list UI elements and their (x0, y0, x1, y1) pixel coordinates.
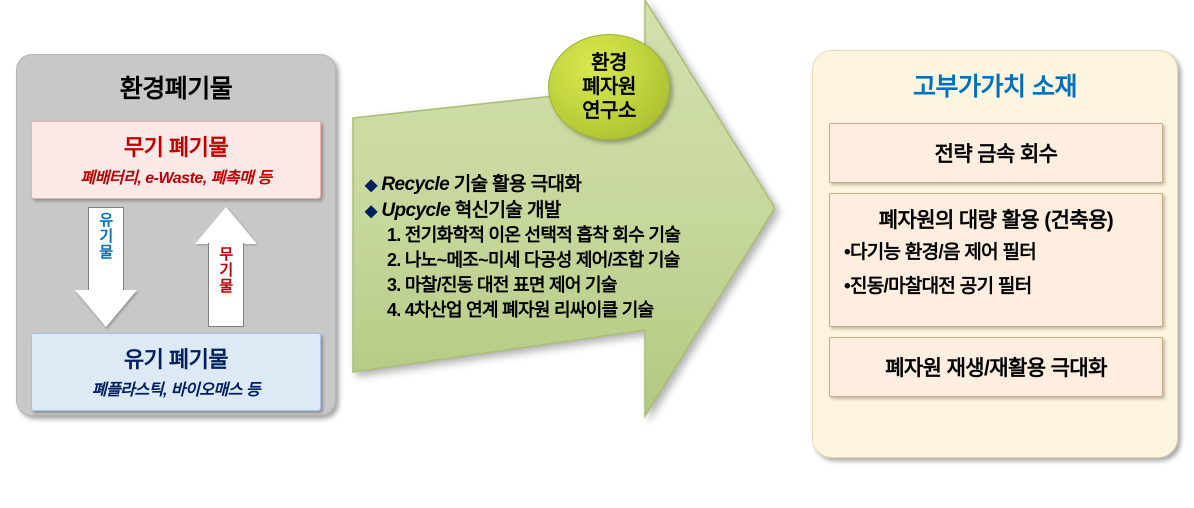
arrow-item-4: 4. 4차산업 연계 폐자원 리싸이클 기술 (387, 298, 755, 323)
institute-badge-label: 환경 폐자원 연구소 (582, 51, 636, 123)
arrow-bullet-2-emph: Upcycle (381, 200, 450, 221)
output-box-mass-utilization: 폐자원의 대량 활용 (건축용) •다기능 환경/음 제어 필터 •진동/마찰대… (829, 193, 1163, 327)
up-arrow-head (195, 207, 257, 244)
output-box-recycling: 폐자원 재생/재활용 극대화 (829, 337, 1163, 397)
inorganic-waste-subtitle: 폐배터리, e-Waste, 폐촉매 등 (32, 164, 320, 188)
arrow-bullet-2-rest: 혁신기술 개발 (450, 200, 561, 221)
organic-down-arrow: 유 기 물 (75, 207, 137, 327)
arrow-item-1: 1. 전기화학적 이온 선택적 흡착 회수 기술 (387, 223, 755, 248)
output-box-2-title: 폐자원의 대량 활용 (건축용) (830, 204, 1162, 234)
arrow-bullet-1-rest: 기술 활용 극대화 (449, 174, 581, 195)
inorganic-up-arrow: 무 기 물 (195, 207, 257, 327)
organic-waste-title: 유기 폐기물 (32, 342, 320, 374)
left-panel-title: 환경폐기물 (17, 69, 335, 105)
organic-waste-subtitle: 폐플라스틱, 바이오매스 등 (32, 376, 320, 400)
down-arrow-label: 유 기 물 (75, 213, 137, 262)
output-box-3-title: 폐자원 재생/재활용 극대화 (830, 352, 1162, 382)
diamond-icon: ◆ (365, 177, 377, 194)
arrow-text-block: ◆ Recycle 기술 활용 극대화 ◆ Upcycle 혁신기술 개발 1.… (365, 172, 755, 323)
output-box-1-title: 전략 금속 회수 (830, 138, 1162, 168)
arrow-bullet-1: ◆ Recycle 기술 활용 극대화 (365, 172, 755, 198)
arrow-bullet-1-emph: Recycle (381, 174, 449, 195)
down-arrow-head (75, 290, 137, 327)
arrow-bullet-2: ◆ Upcycle 혁신기술 개발 (365, 198, 755, 224)
output-box-strategic-metal: 전략 금속 회수 (829, 123, 1163, 183)
institute-badge: 환경 폐자원 연구소 (548, 34, 670, 140)
inorganic-waste-box: 무기 폐기물 폐배터리, e-Waste, 폐촉매 등 (31, 121, 321, 199)
high-value-materials-panel: 고부가가치 소재 전략 금속 회수 폐자원의 대량 활용 (건축용) •다기능 … (812, 50, 1178, 458)
environmental-waste-panel: 환경폐기물 무기 폐기물 폐배터리, e-Waste, 폐촉매 등 유 기 물 … (16, 54, 336, 416)
arrow-item-3: 3. 마찰/진동 대전 표면 제어 기술 (387, 273, 755, 298)
up-arrow-label: 무 기 물 (195, 247, 257, 296)
inorganic-waste-title: 무기 폐기물 (32, 130, 320, 162)
diamond-icon-2: ◆ (365, 203, 377, 220)
arrow-item-2: 2. 나노~메조~미세 다공성 제어/조합 기술 (387, 248, 755, 273)
organic-waste-box: 유기 폐기물 폐플라스틱, 바이오매스 등 (31, 333, 321, 411)
output-box-2-item-2: •진동/마찰대전 공기 필터 (844, 274, 1154, 301)
output-box-2-item-1: •다기능 환경/음 제어 필터 (844, 240, 1154, 267)
right-panel-title: 고부가가치 소재 (813, 67, 1177, 103)
